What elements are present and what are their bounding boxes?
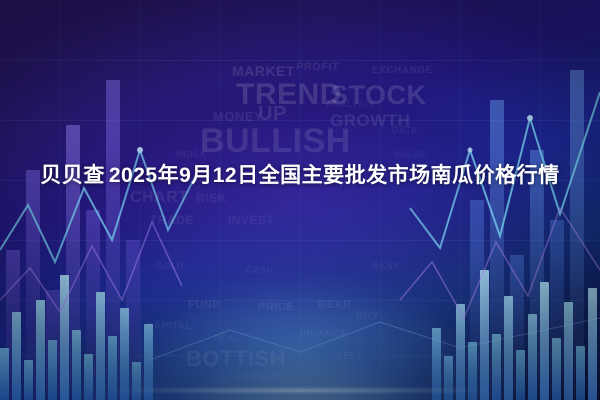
word-cloud-item: UP: [258, 104, 287, 124]
floor-glow: [0, 240, 600, 400]
brand-label: 贝贝查: [40, 164, 105, 187]
word-cloud-item: ANALYSIS: [326, 100, 375, 109]
poster-title-text: 2025年9月12日全国主要批发市场南瓜价格行情: [109, 164, 560, 187]
word-cloud-item: EXCHANGE: [372, 66, 433, 76]
word-cloud-item: MARKET: [232, 64, 295, 78]
word-cloud-item: DATA: [392, 126, 418, 135]
floor-light-streak: [108, 389, 492, 392]
poster-image: MARKET PROFIT TREND STOCK EXCHANGE MONEY…: [0, 0, 600, 400]
word-cloud-item: INVEST: [228, 214, 274, 226]
word-cloud-item: TRADE: [150, 214, 194, 226]
poster-title: 贝贝查2025年9月12日全国主要批发市场南瓜价格行情: [0, 158, 600, 194]
word-cloud-item: PROFIT: [296, 62, 339, 73]
word-cloud-item: BULLISH: [200, 124, 351, 158]
